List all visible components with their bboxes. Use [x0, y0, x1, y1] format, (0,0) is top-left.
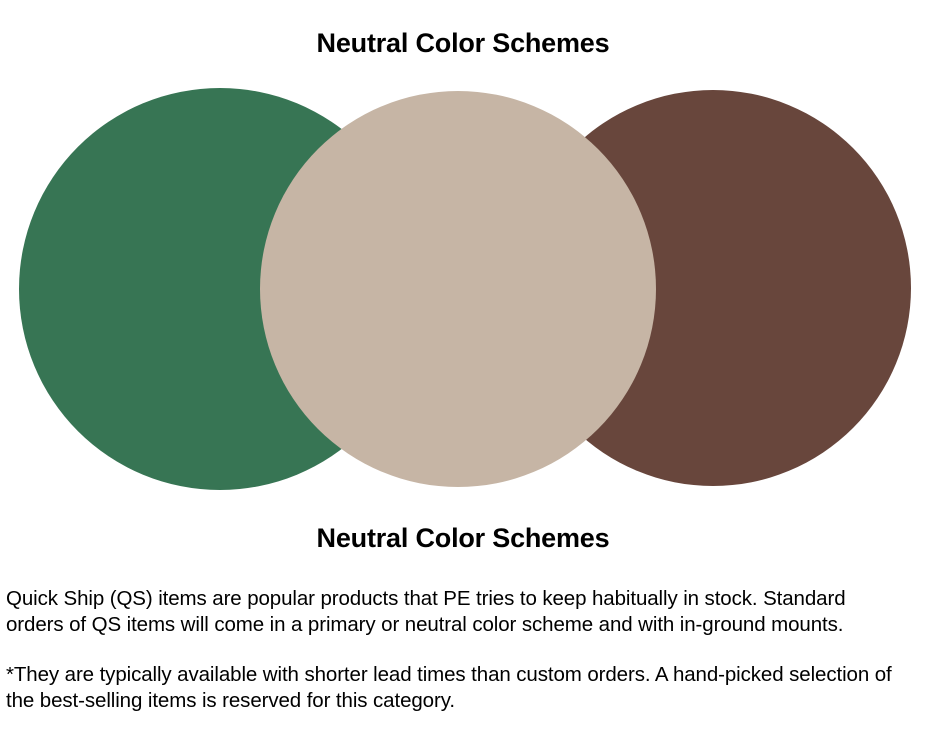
color-swatch-group: [0, 88, 926, 492]
paragraph-lead-times-note: *They are typically available with short…: [6, 662, 894, 713]
color-swatch-beige: [260, 91, 656, 487]
page-title-top: Neutral Color Schemes: [0, 26, 926, 60]
body-copy: Quick Ship (QS) items are popular produc…: [6, 586, 894, 713]
page-canvas: Neutral Color Schemes Neutral Color Sche…: [0, 0, 926, 752]
paragraph-quick-ship: Quick Ship (QS) items are popular produc…: [6, 586, 894, 637]
page-title-bottom: Neutral Color Schemes: [0, 521, 926, 555]
